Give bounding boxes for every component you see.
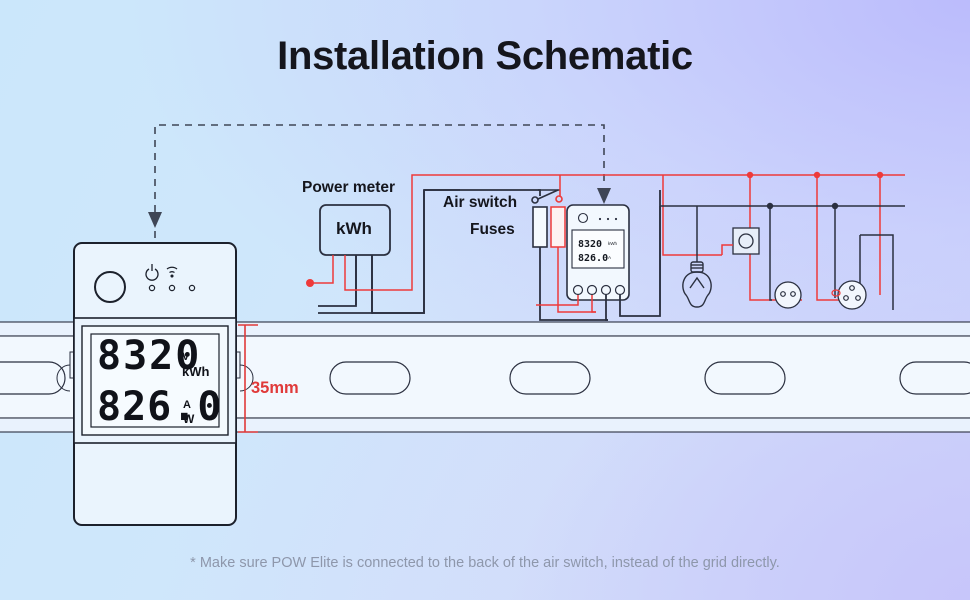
fuse-live bbox=[551, 207, 565, 247]
power-meter-box-label: kWh bbox=[336, 219, 372, 239]
device-small-lcd-line2-unit: A bbox=[608, 255, 611, 260]
lcd-line1-unit-top: V bbox=[182, 352, 189, 364]
dimension-label: 35mm bbox=[251, 379, 299, 398]
schematic-canvas bbox=[0, 0, 970, 600]
air-switch-label: Air switch bbox=[443, 194, 517, 212]
socket-3pin-icon bbox=[832, 281, 866, 309]
fuses-label: Fuses bbox=[470, 221, 515, 239]
lcd-line2-unit-top: A bbox=[183, 400, 191, 412]
device-small-lcd-line1-unit: kWh bbox=[608, 241, 617, 246]
wall-switch-icon bbox=[722, 228, 759, 255]
lcd-line2-value: 826.0 bbox=[97, 384, 222, 430]
power-meter-label: Power meter bbox=[302, 179, 395, 197]
fuse-neutral bbox=[533, 207, 547, 247]
terminal-dot-live bbox=[306, 279, 314, 287]
lcd-line1-unit-bottom: kWh bbox=[182, 365, 209, 379]
device-small-lcd-line2: 826.0 bbox=[578, 253, 608, 264]
schematic-page: Installation Schematic bbox=[0, 0, 970, 600]
socket-2pin-icon bbox=[775, 282, 801, 308]
light-bulb-icon bbox=[683, 255, 711, 307]
lcd-line2-unit-bottom: W bbox=[183, 413, 194, 426]
air-switch-symbol bbox=[532, 190, 562, 203]
footnote-text: * Make sure POW Elite is connected to th… bbox=[0, 555, 970, 571]
device-small-lcd-line1: 8320 bbox=[578, 239, 602, 250]
